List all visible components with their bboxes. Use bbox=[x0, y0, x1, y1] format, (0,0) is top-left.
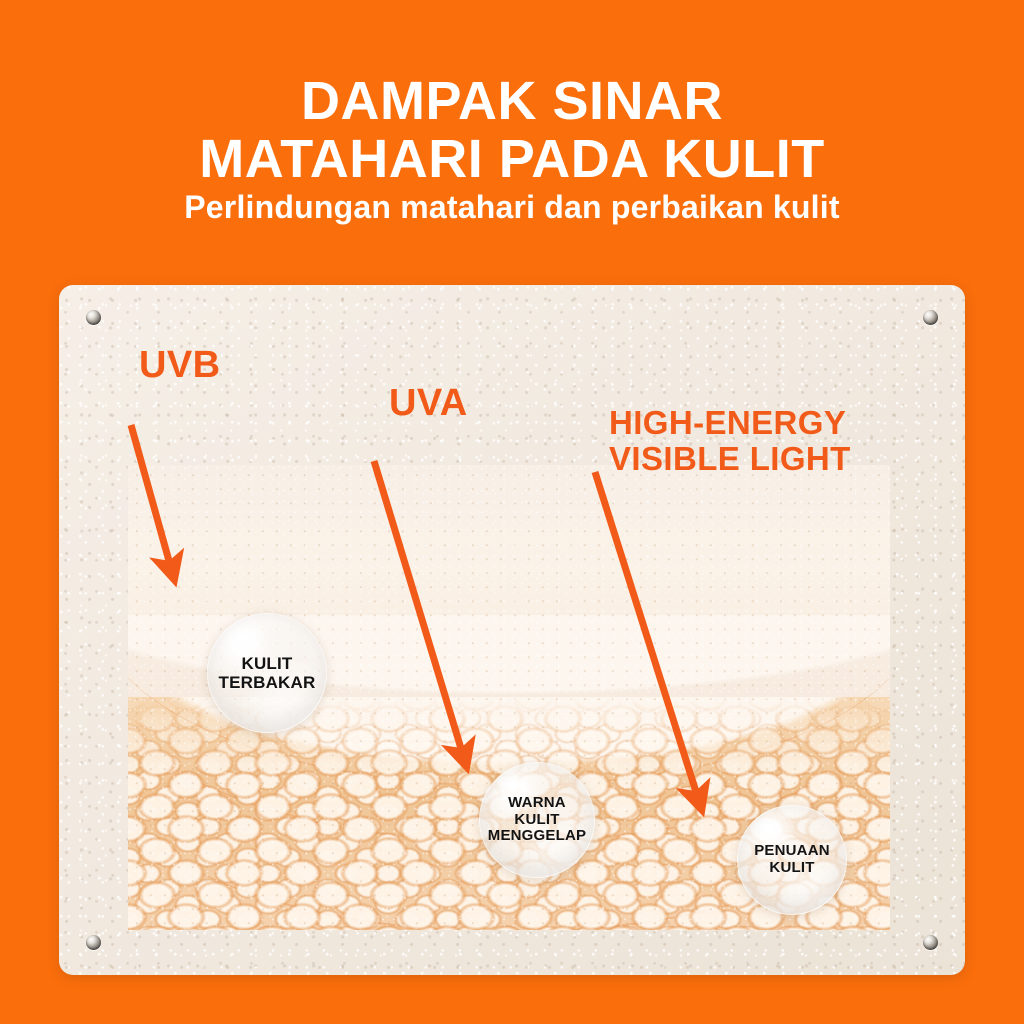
header: DAMPAK SINAR MATAHARI PADA KULIT Perlind… bbox=[0, 0, 1024, 255]
bubble-highlight-icon bbox=[236, 634, 247, 642]
title-line-1: DAMPAK SINAR bbox=[0, 72, 1024, 130]
effect-bubble-label: PENUAAN KULIT bbox=[754, 843, 830, 877]
ray-label-uvb: UVB bbox=[139, 345, 220, 386]
page-subtitle: Perlindungan matahari dan perbaikan kuli… bbox=[0, 188, 1024, 226]
screw-icon bbox=[923, 310, 938, 325]
title-line-2: MATAHARI PADA KULIT bbox=[0, 130, 1024, 188]
infographic-poster: DAMPAK SINAR MATAHARI PADA KULIT Perlind… bbox=[0, 0, 1024, 1024]
page-title: DAMPAK SINAR MATAHARI PADA KULIT bbox=[0, 72, 1024, 188]
effect-bubble-kulit-terbakar: KULIT TERBAKAR bbox=[207, 613, 327, 733]
ray-label-uva: UVA bbox=[389, 383, 468, 424]
screw-icon bbox=[923, 935, 938, 950]
bubble-highlight-icon bbox=[764, 824, 775, 832]
screw-icon bbox=[86, 935, 101, 950]
effect-bubble-warna-kulit-menggelap: WARNA KULIT MENGGELAP bbox=[479, 762, 595, 878]
diagram-panel: UVB UVA HIGH-ENERGY VISIBLE LIGHT KULIT … bbox=[59, 285, 965, 975]
effect-bubble-label: WARNA KULIT MENGGELAP bbox=[488, 795, 586, 845]
screw-icon bbox=[86, 310, 101, 325]
bubble-highlight-icon bbox=[507, 782, 518, 790]
effect-bubble-penuaan-kulit: PENUAAN KULIT bbox=[737, 805, 847, 915]
effect-bubble-label: KULIT TERBAKAR bbox=[219, 654, 316, 692]
ray-label-high-energy-visible-light: HIGH-ENERGY VISIBLE LIGHT bbox=[609, 405, 851, 476]
